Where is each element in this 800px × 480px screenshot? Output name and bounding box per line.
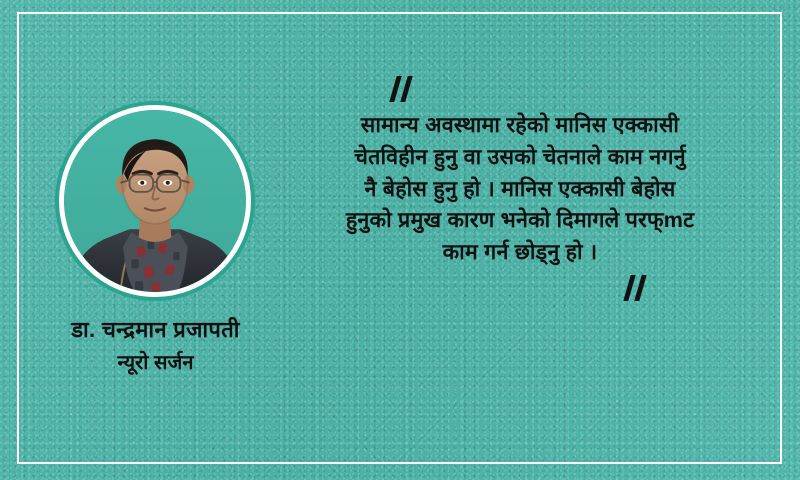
quote-slash-2 [400, 76, 412, 102]
quote-slash-1 [389, 76, 401, 102]
quote-slash-2 [634, 275, 646, 301]
person-role: न्यूरो सर्जन [18, 350, 293, 377]
quote-text: सामान्य अवस्थामा रहेको मानिस एक्कासी चेत… [285, 110, 755, 269]
quote-line: हुनुको प्रमुख कारण भनेको दिमागले परफ्mट [285, 205, 755, 237]
portrait-illustration-icon [64, 110, 246, 292]
quote-slash-1 [623, 275, 635, 301]
person-identity-block: डा. चन्द्रमान प्रजापती न्यूरो सर्जन [18, 316, 293, 377]
quote-line: सामान्य अवस्थामा रहेको मानिस एक्कासी [285, 110, 755, 142]
quote-line: काम गर्न छोड्नु हो । [285, 237, 755, 269]
quote-line: नै बेहोस हुनु हो । मानिस एक्कासी बेहोस [285, 174, 755, 206]
avatar-photo [64, 110, 246, 292]
quote-block: सामान्य अवस्थामा रहेको मानिस एक्कासी चेत… [285, 74, 755, 303]
avatar-white-ring [59, 105, 251, 297]
avatar [55, 101, 255, 301]
closing-quote-mark-icon [285, 273, 755, 303]
opening-quote-mark-icon [285, 74, 755, 104]
quote-card: डा. चन्द्रमान प्रजापती न्यूरो सर्जन सामा… [0, 0, 800, 480]
person-name: डा. चन्द्रमान प्रजापती [18, 316, 293, 344]
quote-line: चेतविहीन हुनु वा उसको चेतनाले काम नगर्नु [285, 142, 755, 174]
